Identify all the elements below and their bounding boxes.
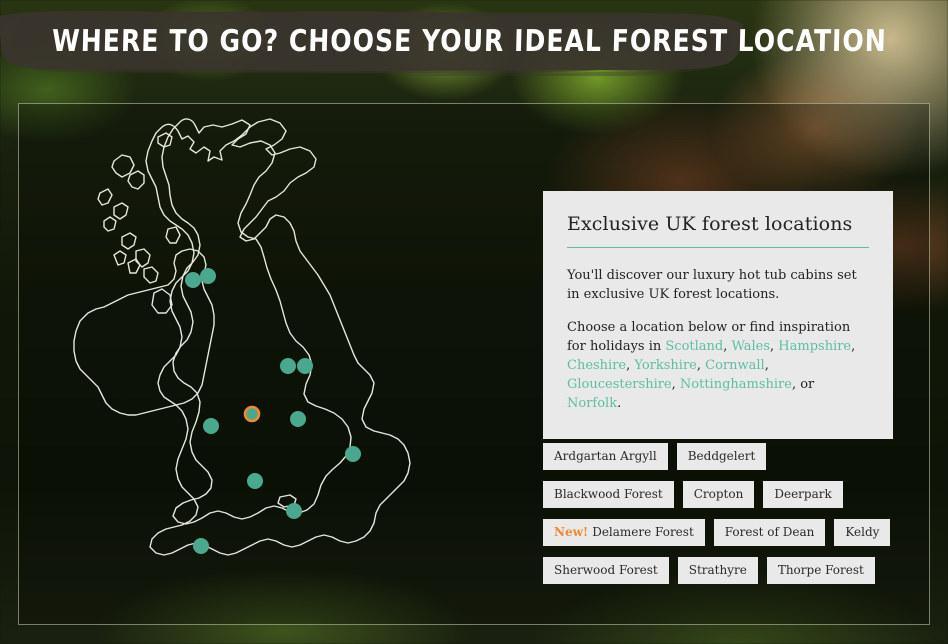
region-link-wales[interactable]: Wales [732, 339, 771, 354]
location-button-cropton[interactable]: Cropton [683, 481, 755, 508]
location-label: Sherwood Forest [554, 563, 658, 577]
chip-row-3: New!Delamere Forest Forest of Dean Keldy [543, 519, 933, 546]
location-button-forest-of-dean[interactable]: Forest of Dean [714, 519, 826, 546]
region-link-yorkshire[interactable]: Yorkshire [634, 358, 696, 373]
panel-intro-paragraph: You'll discover our luxury hot tub cabin… [567, 266, 869, 304]
page-header-banner: Where to go? Choose your ideal forest lo… [0, 8, 760, 76]
panel-heading: Exclusive UK forest locations [567, 213, 869, 235]
chip-row-4: Sherwood Forest Strathyre Thorpe Forest [543, 557, 933, 584]
uk-map[interactable] [18, 103, 538, 625]
map-marker-sherwood-forest[interactable] [290, 411, 306, 427]
location-label: Ardgartan Argyll [554, 449, 657, 463]
region-link-nottinghamshire[interactable]: Nottinghamshire [680, 377, 792, 392]
chip-row-2: Blackwood Forest Cropton Deerpark [543, 481, 933, 508]
sep-3: , [851, 339, 855, 354]
map-marker-keldy[interactable] [280, 358, 296, 374]
sep-7: , [672, 377, 680, 392]
location-chip-list: Ardgartan Argyll Beddgelert Blackwood Fo… [543, 443, 933, 584]
sep-1: , [723, 339, 731, 354]
location-button-blackwood-forest[interactable]: Blackwood Forest [543, 481, 674, 508]
location-label: Cropton [694, 487, 744, 501]
location-button-deerpark[interactable]: Deerpark [763, 481, 842, 508]
map-marker-ardgartan-argyll[interactable] [185, 272, 201, 288]
map-marker-cropton[interactable] [297, 358, 313, 374]
new-badge: New! [554, 525, 588, 539]
map-marker-forest-of-dean[interactable] [247, 473, 263, 489]
location-button-keldy[interactable]: Keldy [834, 519, 890, 546]
scottish-islands [98, 133, 180, 313]
map-marker-strathyre[interactable] [200, 268, 216, 284]
location-button-strathyre[interactable]: Strathyre [678, 557, 758, 584]
sep-5: , [697, 358, 705, 373]
great-britain-outline [146, 119, 410, 555]
location-button-delamere-forest[interactable]: New!Delamere Forest [543, 519, 705, 546]
location-label: Keldy [845, 525, 879, 539]
location-label: Thorpe Forest [778, 563, 864, 577]
location-label: Blackwood Forest [554, 487, 663, 501]
region-link-hampshire[interactable]: Hampshire [778, 339, 851, 354]
location-button-sherwood-forest[interactable]: Sherwood Forest [543, 557, 669, 584]
map-marker-thorpe-forest[interactable] [345, 446, 361, 462]
or-separator: , or [792, 377, 814, 392]
uk-map-svg [18, 103, 538, 625]
page-root: Where to go? Choose your ideal forest lo… [0, 0, 948, 644]
region-link-scotland[interactable]: Scotland [665, 339, 723, 354]
location-label: Delamere Forest [592, 525, 694, 539]
map-marker-layer[interactable] [185, 268, 361, 554]
region-link-cornwall[interactable]: Cornwall [705, 358, 765, 373]
location-button-beddgelert[interactable]: Beddgelert [677, 443, 767, 470]
location-label: Strathyre [689, 563, 747, 577]
location-label: Deerpark [774, 487, 831, 501]
map-landmasses [162, 119, 351, 524]
panel-regions-paragraph: Choose a location below or find inspirat… [567, 318, 869, 413]
region-link-cheshire[interactable]: Cheshire [567, 358, 626, 373]
info-panel: Exclusive UK forest locations You'll dis… [543, 191, 893, 439]
chip-row-1: Ardgartan Argyll Beddgelert [543, 443, 933, 470]
scotland-england-wales-shape [162, 119, 351, 524]
region-link-gloucestershire[interactable]: Gloucestershire [567, 377, 672, 392]
location-label: Beddgelert [688, 449, 756, 463]
map-marker-deerpark[interactable] [193, 538, 209, 554]
paragraph-period: . [617, 396, 621, 411]
location-button-thorpe-forest[interactable]: Thorpe Forest [767, 557, 875, 584]
map-marker-delamere-forest[interactable] [245, 407, 259, 421]
map-marker-beddgelert[interactable] [203, 418, 219, 434]
page-title: Where to go? Choose your ideal forest lo… [52, 22, 695, 62]
location-button-ardgartan-argyll[interactable]: Ardgartan Argyll [543, 443, 668, 470]
sep-6: , [765, 358, 769, 373]
location-label: Forest of Dean [725, 525, 815, 539]
panel-divider [567, 247, 869, 248]
map-marker-blackwood-forest[interactable] [286, 503, 302, 519]
region-link-norfolk[interactable]: Norfolk [567, 396, 617, 411]
